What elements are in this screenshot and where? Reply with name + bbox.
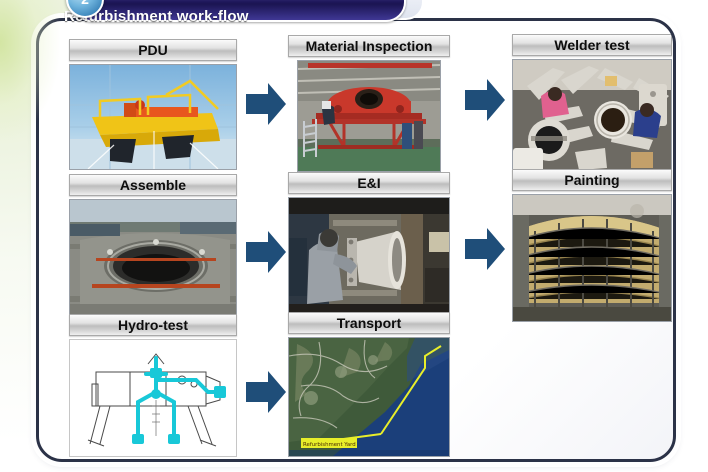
step-image-pdu [69,64,237,170]
step-image-painting [512,194,672,322]
workflow-step-material-inspection[interactable]: Material Inspection [288,35,450,172]
step-image-material-inspection [297,60,441,172]
step-label-e-and-i: E&I [288,172,450,194]
workflow-panel: PDU [36,18,676,462]
arrow-material-inspection-to-welder-test [463,77,507,123]
workflow-step-painting[interactable]: Painting [512,169,672,322]
workflow-grid: PDU [39,21,673,459]
step-label-material-inspection: Material Inspection [288,35,450,57]
workflow-step-transport[interactable]: Transport [288,312,450,457]
step-image-e-and-i [288,197,450,321]
step-image-hydro-test [69,339,237,457]
workflow-step-assemble[interactable]: Assemble [69,174,237,321]
slide-background: PDU [0,0,708,472]
workflow-step-pdu[interactable]: PDU [69,39,237,170]
arrow-pdu-to-material-inspection [244,81,288,127]
arrow-hydro-test-to-transport [244,369,288,415]
title-gloss [74,0,404,2]
step-label-painting: Painting [512,169,672,191]
step-label-welder-test: Welder test [512,34,672,56]
workflow-step-hydro-test[interactable]: Hydro-test [69,314,237,457]
step-label-transport: Transport [288,312,450,334]
step-image-assemble [69,199,237,321]
workflow-step-welder-test[interactable]: Welder test [512,34,672,175]
step-image-welder-test [512,59,672,175]
step-image-transport: Refurbishment Yard [288,337,450,457]
arrow-assemble-to-e-and-i [244,229,288,275]
step-label-hydro-test: Hydro-test [69,314,237,336]
arrow-e-and-i-to-painting [463,226,507,272]
workflow-step-e-and-i[interactable]: E&I [288,172,450,321]
step-label-pdu: PDU [69,39,237,61]
step-label-assemble: Assemble [69,174,237,196]
map-site-label: Refurbishment Yard [303,442,356,448]
